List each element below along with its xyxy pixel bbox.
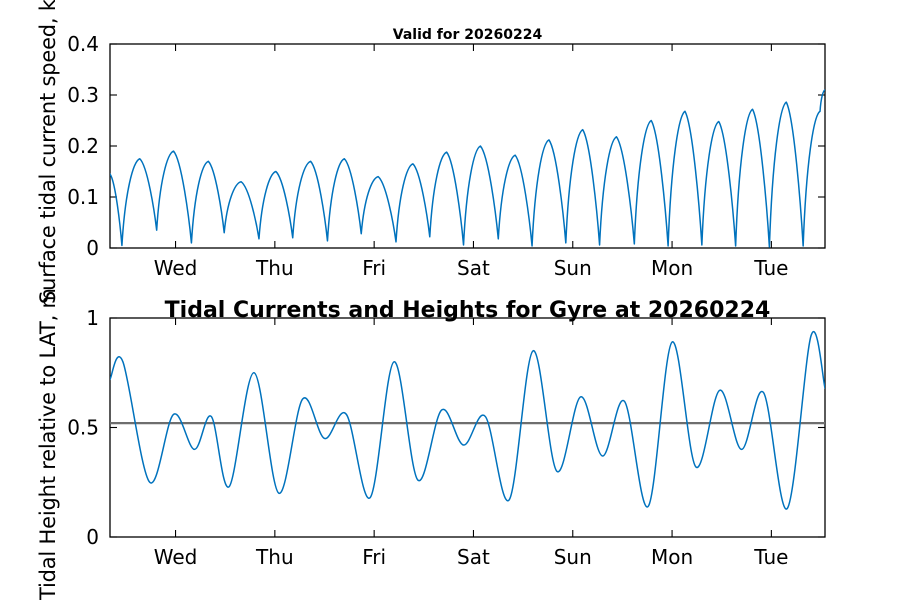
x-tick-label: Thu xyxy=(255,545,294,569)
top-chart-title: Valid for 20260224 xyxy=(110,27,825,43)
plot-frame xyxy=(110,44,825,248)
top-chart-y-axis-label: Surface tidal current speed, kn xyxy=(36,0,60,304)
y-tick-label: 0 xyxy=(86,236,99,260)
tidal-figure: Surface tidal current speed, kn Tidal He… xyxy=(0,0,900,600)
x-tick-label: Sun xyxy=(554,256,592,280)
x-tick-label: Mon xyxy=(651,256,693,280)
y-tick-label: 0.3 xyxy=(67,83,99,107)
y-tick-label: 0 xyxy=(86,525,99,549)
y-tick-label: 0.5 xyxy=(67,416,99,440)
bottom-chart-axes: 00.51WedThuFriSatSunMonTue xyxy=(67,306,825,569)
main-chart-title: Tidal Currents and Heights for Gyre at 2… xyxy=(110,298,825,323)
x-tick-label: Wed xyxy=(154,256,198,280)
x-tick-label: Tue xyxy=(753,256,788,280)
top-chart-axes: 00.10.20.30.4WedThuFriSatSunMonTue xyxy=(67,32,825,280)
x-tick-label: Fri xyxy=(362,256,386,280)
x-tick-label: Sat xyxy=(457,256,490,280)
x-tick-label: Sun xyxy=(554,545,592,569)
y-tick-label: 0.1 xyxy=(67,185,99,209)
x-tick-label: Thu xyxy=(255,256,294,280)
data-series-line xyxy=(110,90,825,247)
y-tick-label: 1 xyxy=(86,306,99,330)
x-tick-label: Sat xyxy=(457,545,490,569)
x-tick-label: Fri xyxy=(362,545,386,569)
data-series-line xyxy=(110,332,825,509)
plot-frame xyxy=(110,318,825,537)
x-tick-label: Tue xyxy=(753,545,788,569)
bottom-chart-y-axis-label: Tidal Height relative to LAT, m xyxy=(36,288,60,600)
y-tick-label: 0.4 xyxy=(67,32,99,56)
x-tick-label: Wed xyxy=(154,545,198,569)
x-tick-label: Mon xyxy=(651,545,693,569)
y-tick-label: 0.2 xyxy=(67,134,99,158)
